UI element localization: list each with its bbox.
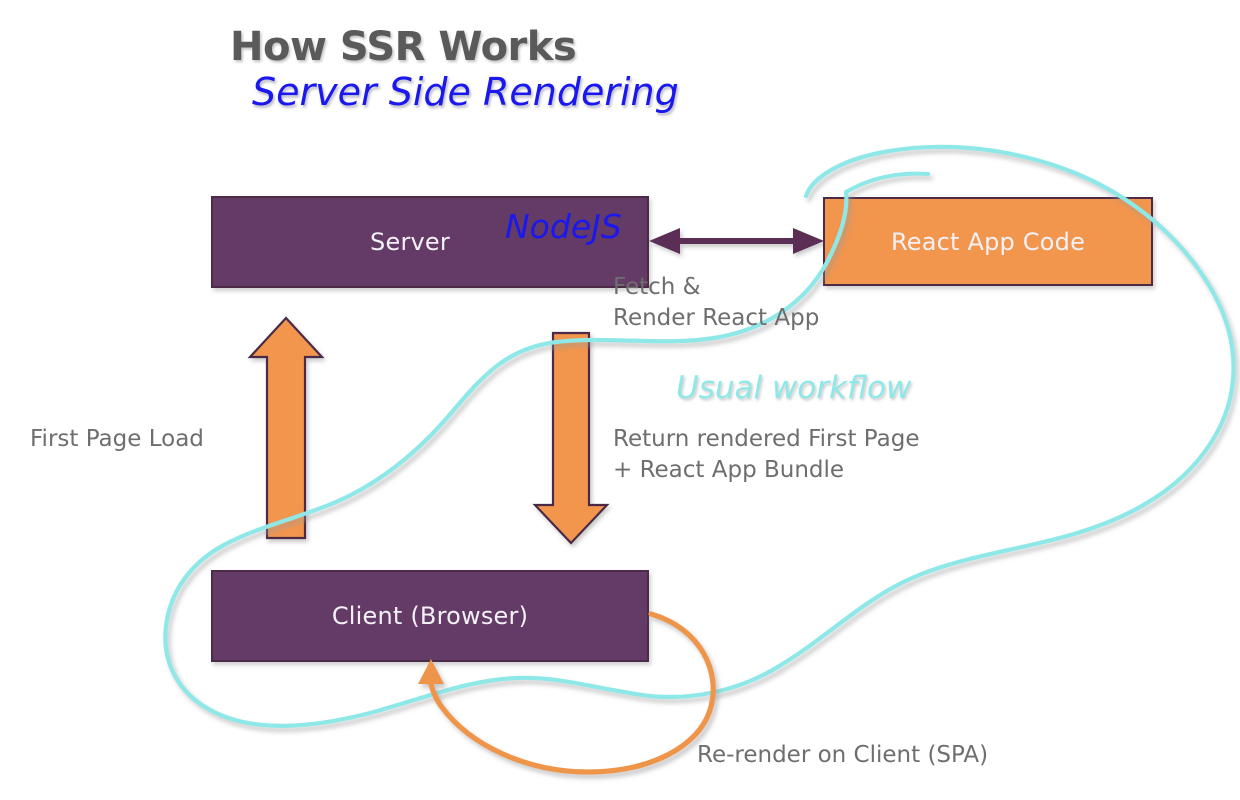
caption-return-rendered-line1: Return rendered First Page <box>613 424 919 455</box>
caption-return-rendered-line2: + React App Bundle <box>613 455 919 486</box>
client-self-loop-arrow <box>418 614 713 772</box>
caption-return-rendered: Return rendered First Page + React App B… <box>613 424 919 486</box>
page-subtitle: Server Side Rendering <box>252 70 679 114</box>
caption-re-render-spa: Re-render on Client (SPA) <box>697 740 988 771</box>
page-title: How SSR Works <box>230 24 576 70</box>
caption-first-page-load: First Page Load <box>30 424 204 455</box>
caption-fetch-render-line2: Render React App <box>613 303 819 334</box>
annotation-usual-workflow: Usual workflow <box>676 370 911 406</box>
annotation-nodejs: NodeJS <box>505 207 622 246</box>
diagram-canvas: Server React App Code Client (Browser) H… <box>0 0 1240 800</box>
caption-fetch-render-line1: Fetch & <box>613 272 819 303</box>
caption-fetch-render: Fetch & Render React App <box>613 272 819 334</box>
overlay-strokes-layer <box>0 0 1240 800</box>
